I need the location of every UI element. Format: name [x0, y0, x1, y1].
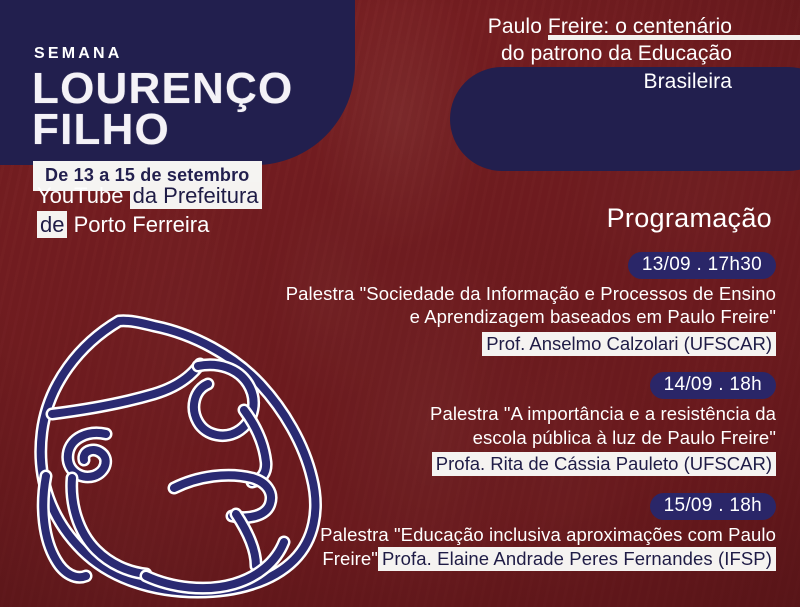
event-title: Palestra "A importância e a resistência …	[256, 402, 776, 449]
brand-title: LOURENÇO FILHO	[32, 68, 370, 151]
poster-canvas: SEMANA LOURENÇO FILHO De 13 a 15 de sete…	[0, 0, 800, 607]
broadcast-channel-text: YouTube da Prefeitura de Porto Ferreira	[37, 182, 357, 239]
schedule-event: 13/09 . 17h30 Palestra "Sociedade da Inf…	[256, 252, 776, 356]
event-speaker: Profa. Elaine Andrade Peres Fernandes (I…	[378, 547, 776, 571]
event-datetime-badge: 15/09 . 18h	[650, 493, 776, 520]
programacao-heading: Programação	[607, 203, 772, 234]
schedule-event: 15/09 . 18h Palestra "Educação inclusiva…	[256, 493, 776, 572]
event-title-line1: Palestra "A importância e a resistência …	[256, 402, 776, 425]
city-name: Porto Ferreira	[67, 212, 209, 237]
event-title-line1: Palestra "Sociedade da Informação e Proc…	[256, 282, 776, 305]
brand-eyebrow: SEMANA	[34, 46, 370, 62]
schedule-list: 13/09 . 17h30 Palestra "Sociedade da Inf…	[256, 252, 776, 572]
event-datetime-badge: 14/09 . 18h	[650, 372, 776, 399]
main-title: Paulo Freire: o centenário do patrono da…	[432, 13, 732, 95]
main-title-line1: Paulo Freire: o centenário	[432, 13, 732, 40]
event-datetime-badge: 13/09 . 17h30	[628, 252, 776, 279]
main-title-line2: do patrono da Educação	[432, 40, 732, 67]
event-speaker-row: Profa. Rita de Cássia Pauleto (UFSCAR)	[256, 451, 776, 477]
event-speaker-row: Prof. Anselmo Calzolari (UFSCAR)	[256, 331, 776, 357]
youtube-label: YouTube	[37, 183, 130, 208]
brand-lockup: SEMANA LOURENÇO FILHO De 13 a 15 de sete…	[30, 40, 370, 191]
brand-title-line2: FILHO	[32, 109, 370, 150]
event-title-line2: escola pública à luz de Paulo Freire"	[256, 426, 776, 449]
event-title-line2-row: Freire"Profa. Elaine Andrade Peres Ferna…	[256, 546, 776, 572]
event-title-line2: e Aprendizagem baseados em Paulo Freire"	[256, 305, 776, 328]
event-title-line1: Palestra "Educação inclusiva aproximaçõe…	[256, 523, 776, 546]
event-speaker: Prof. Anselmo Calzolari (UFSCAR)	[482, 332, 776, 356]
event-title: Palestra "Sociedade da Informação e Proc…	[256, 282, 776, 329]
event-title: Palestra "Educação inclusiva aproximaçõe…	[256, 523, 776, 572]
schedule-event: 14/09 . 18h Palestra "A importância e a …	[256, 372, 776, 476]
main-title-line3: Brasileira	[432, 68, 732, 95]
prefeitura-highlight: da Prefeitura	[130, 182, 262, 209]
event-speaker: Profa. Rita de Cássia Pauleto (UFSCAR)	[432, 452, 776, 476]
paulo-freire-portrait-illustration	[22, 292, 332, 604]
de-highlight: de	[37, 211, 67, 238]
